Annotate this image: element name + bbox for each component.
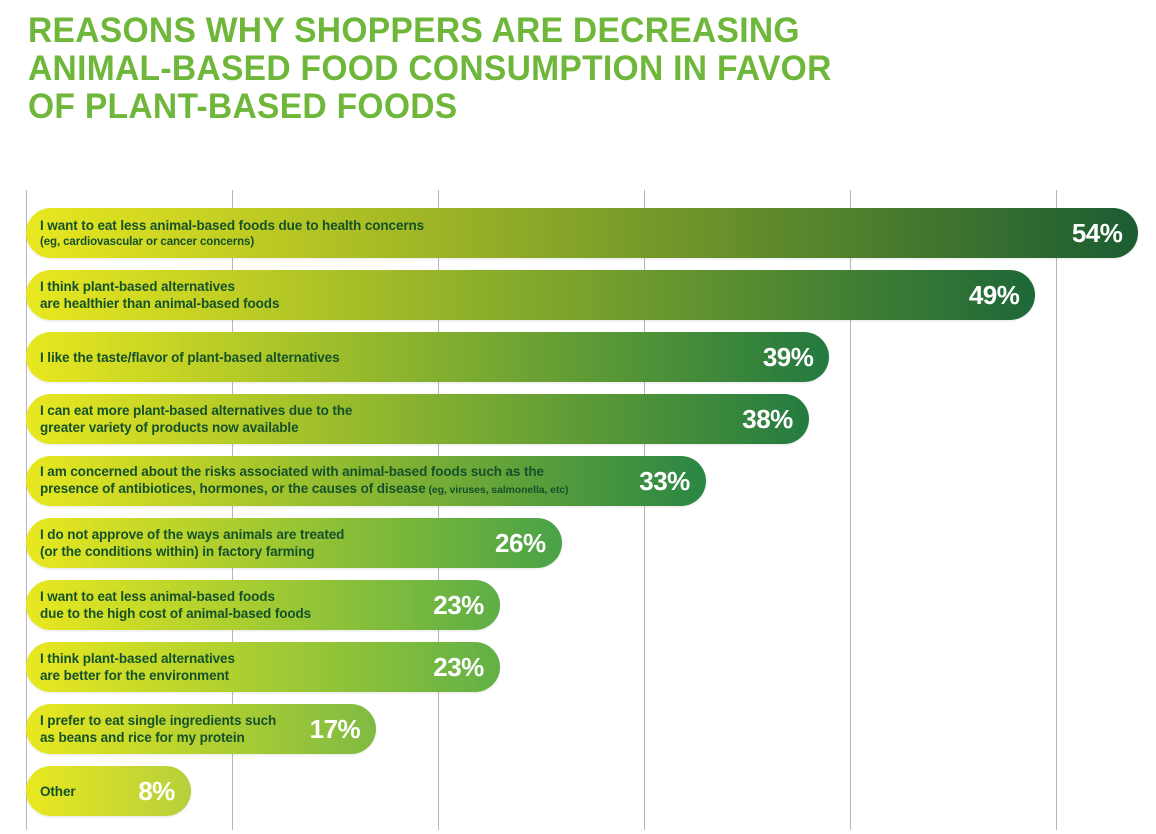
bar-label: Other	[40, 766, 76, 816]
infographic-canvas: Reasons why shoppers are decreasing anim…	[0, 0, 1156, 834]
bar-label-line-2: are better for the environment	[40, 667, 235, 684]
bar-label-line-2: are healthier than animal-based foods	[40, 295, 279, 312]
bar-series: I want to eat less animal-based foods du…	[0, 190, 1156, 830]
bar-label-line-1: Other	[40, 783, 76, 800]
bar-value-label: 49%	[969, 270, 1020, 320]
bar: I prefer to eat single ingredients sucha…	[26, 704, 376, 754]
bar: I am concerned about the risks associate…	[26, 456, 706, 506]
bar-row: I like the taste/flavor of plant-based a…	[26, 332, 829, 382]
bar-row: I want to eat less animal-based foods du…	[26, 208, 1138, 258]
bar-value-label: 23%	[433, 580, 484, 630]
bar-row: I prefer to eat single ingredients sucha…	[26, 704, 376, 754]
bar: I can eat more plant-based alternatives …	[26, 394, 809, 444]
bar-row: I think plant-based alternativesare heal…	[26, 270, 1035, 320]
bar-label: I am concerned about the risks associate…	[40, 456, 568, 506]
bar-label-line-2: presence of antibiotices, hormones, or t…	[40, 480, 568, 499]
bar: I think plant-based alternativesare heal…	[26, 270, 1035, 320]
bar-label: I think plant-based alternativesare heal…	[40, 270, 279, 320]
bar-label-line-1: I want to eat less animal-based foods du…	[40, 217, 424, 234]
bar-row: I am concerned about the risks associate…	[26, 456, 706, 506]
bar-value-label: 17%	[310, 704, 361, 754]
bar-row: I want to eat less animal-based foodsdue…	[26, 580, 500, 630]
bar-value-label: 23%	[433, 642, 484, 692]
title-line-3: of plant-based foods	[28, 88, 1084, 126]
bar-value-label: 38%	[742, 394, 793, 444]
bar-row: I do not approve of the ways animals are…	[26, 518, 562, 568]
page-title: Reasons why shoppers are decreasing anim…	[28, 12, 1084, 126]
bar-label-line-1: I prefer to eat single ingredients such	[40, 712, 276, 729]
bar-row: Other8%	[26, 766, 191, 816]
bar-row: I think plant-based alternativesare bett…	[26, 642, 500, 692]
bar-label: I want to eat less animal-based foodsdue…	[40, 580, 311, 630]
bar-label: I do not approve of the ways animals are…	[40, 518, 344, 568]
bar-label-line-1: I can eat more plant-based alternatives …	[40, 402, 352, 419]
bar: Other8%	[26, 766, 191, 816]
bar-chart: I want to eat less animal-based foods du…	[0, 190, 1156, 830]
bar-label-line-1: I like the taste/flavor of plant-based a…	[40, 349, 340, 366]
bar-label-line-1: I want to eat less animal-based foods	[40, 588, 311, 605]
bar-label-line-2: (or the conditions within) in factory fa…	[40, 543, 344, 560]
bar-label: I like the taste/flavor of plant-based a…	[40, 332, 340, 382]
bar: I like the taste/flavor of plant-based a…	[26, 332, 829, 382]
bar-label-line-2: greater variety of products now availabl…	[40, 419, 352, 436]
bar-label-line-2: (eg, cardiovascular or cancer concerns)	[40, 234, 424, 250]
bar-label-line-2: as beans and rice for my protein	[40, 729, 276, 746]
bar-label: I can eat more plant-based alternatives …	[40, 394, 352, 444]
bar-label-line-1: I am concerned about the risks associate…	[40, 463, 568, 480]
title-line-2: animal-based food consumption in favor	[28, 50, 1084, 88]
title-line-1: Reasons why shoppers are decreasing	[28, 12, 1084, 50]
bar-label: I want to eat less animal-based foods du…	[40, 208, 424, 258]
bar-value-label: 8%	[138, 766, 175, 816]
bar-value-label: 54%	[1072, 208, 1123, 258]
bar-value-label: 39%	[763, 332, 814, 382]
bar: I want to eat less animal-based foods du…	[26, 208, 1138, 258]
bar-label-line-1: I do not approve of the ways animals are…	[40, 526, 344, 543]
bar: I think plant-based alternativesare bett…	[26, 642, 500, 692]
bar-label-inline-note: (eg, viruses, salmonella, etc)	[426, 484, 569, 496]
bar: I want to eat less animal-based foodsdue…	[26, 580, 500, 630]
bar-value-label: 33%	[639, 456, 690, 506]
bar-label: I think plant-based alternativesare bett…	[40, 642, 235, 692]
bar-label-line-1: I think plant-based alternatives	[40, 278, 279, 295]
bar-value-label: 26%	[495, 518, 546, 568]
bar-label: I prefer to eat single ingredients sucha…	[40, 704, 276, 754]
bar-label-line-1: I think plant-based alternatives	[40, 650, 235, 667]
bar-label-line-2: due to the high cost of animal-based foo…	[40, 605, 311, 622]
bar: I do not approve of the ways animals are…	[26, 518, 562, 568]
bar-row: I can eat more plant-based alternatives …	[26, 394, 809, 444]
